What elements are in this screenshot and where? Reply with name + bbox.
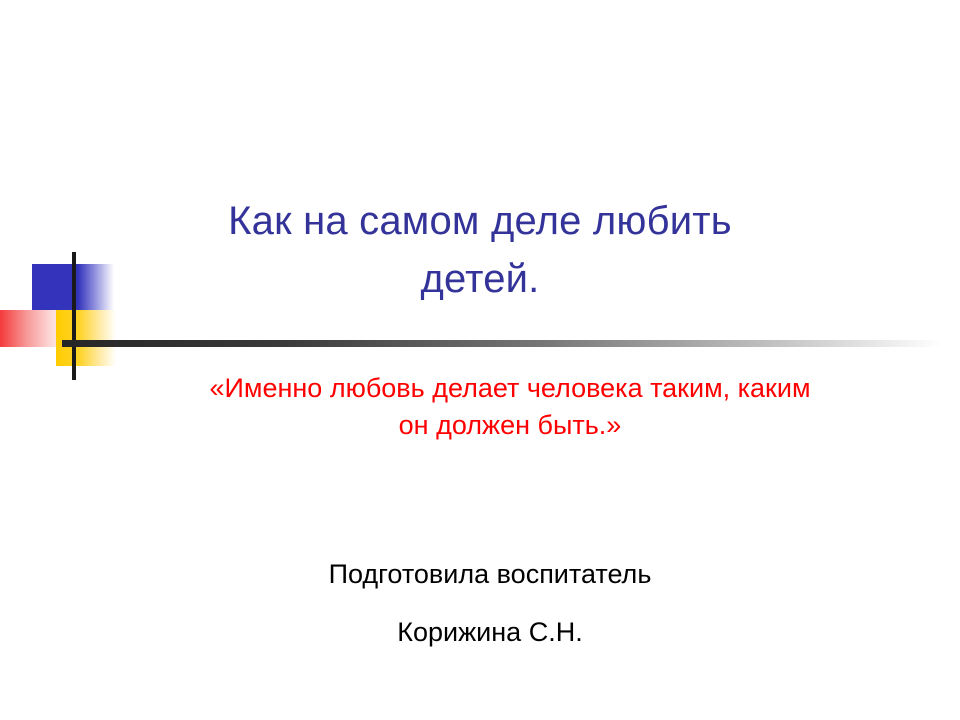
- slide-title-line-2: детей.: [80, 250, 880, 308]
- slide-quote-line-2: он должен быть.»: [70, 407, 950, 444]
- slide-credits-author: Корижина С.Н.: [90, 603, 890, 661]
- slide-title: Как на самом деле любить детей.: [80, 192, 880, 308]
- slide-quote-line-1: «Именно любовь делает человека таким, ка…: [70, 370, 950, 407]
- decor-yellow-gradient-bar: [56, 310, 116, 366]
- slide-credits: Подготовила воспитатель Корижина С.Н.: [90, 545, 890, 661]
- slide-title-line-1: Как на самом деле любить: [80, 192, 880, 250]
- presentation-slide: Как на самом деле любить детей. «Именно …: [0, 0, 960, 720]
- slide-quote: «Именно любовь делает человека таким, ка…: [70, 370, 950, 445]
- decor-vertical-rule: [72, 252, 76, 380]
- decor-horizontal-rule: [62, 340, 942, 347]
- slide-credits-role: Подготовила воспитатель: [90, 545, 890, 603]
